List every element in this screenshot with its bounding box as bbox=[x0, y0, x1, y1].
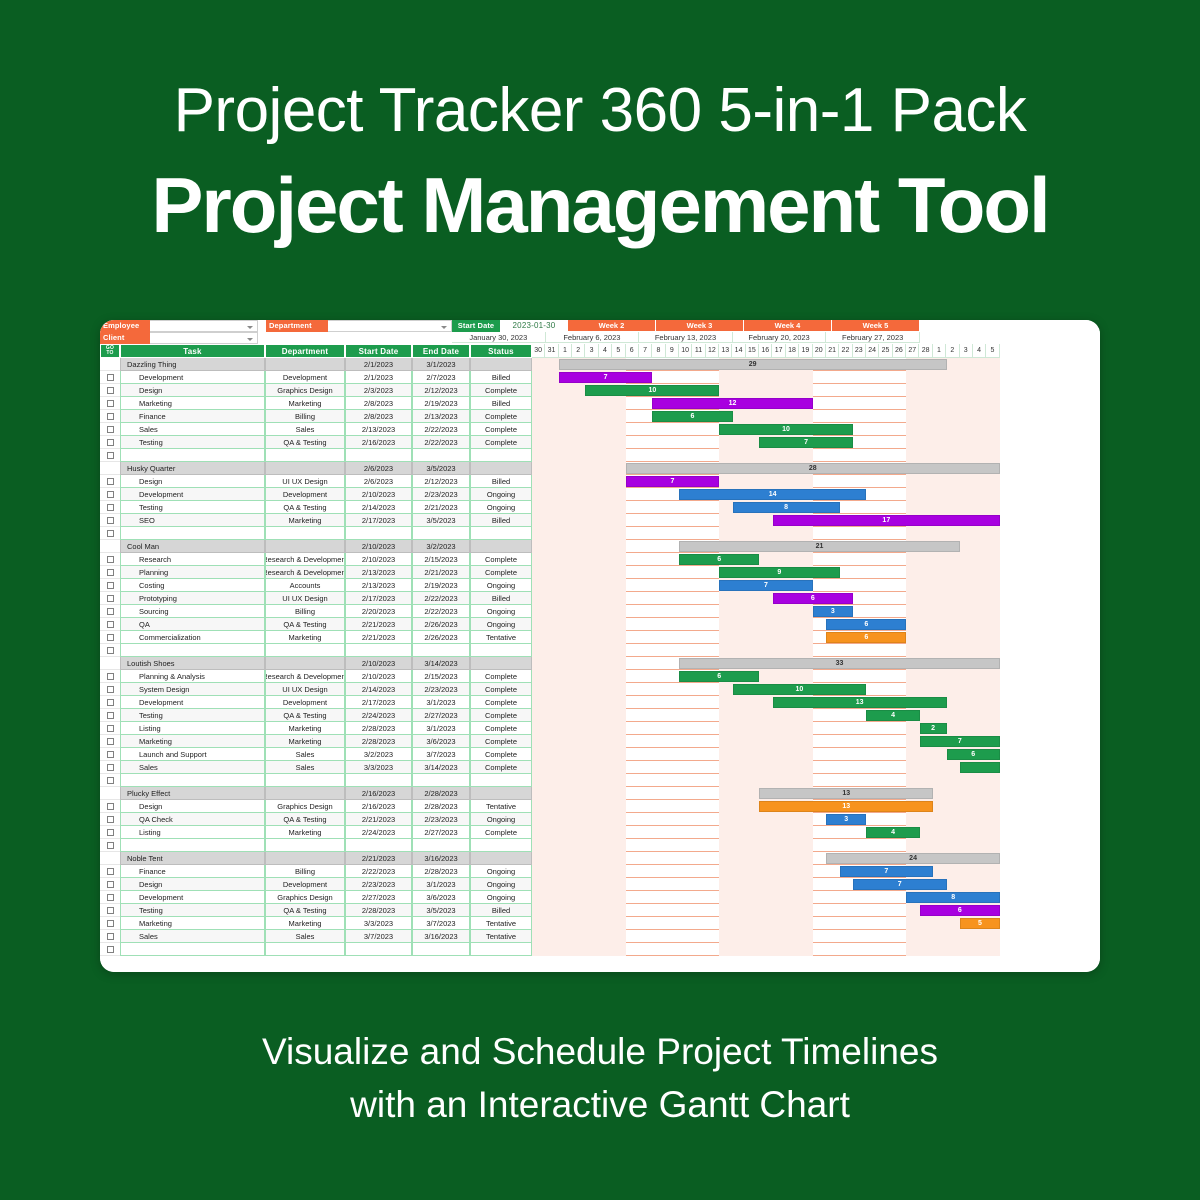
checkbox-icon[interactable] bbox=[107, 751, 114, 758]
task-bar: 6 bbox=[826, 619, 906, 630]
cell-task: Research bbox=[120, 553, 265, 566]
cell-start-date: 2/23/2023 bbox=[345, 878, 412, 891]
cell-status: Complete bbox=[470, 436, 532, 449]
cell-status: Complete bbox=[470, 735, 532, 748]
cell-task: Testing bbox=[120, 904, 265, 917]
caption-line-1: Visualize and Schedule Project Timelines bbox=[0, 1026, 1200, 1079]
goto-checkbox-cell[interactable] bbox=[100, 800, 120, 813]
cell-start-date: 2/17/2023 bbox=[345, 696, 412, 709]
timeline-cell bbox=[532, 930, 1000, 943]
cell-task: QA bbox=[120, 618, 265, 631]
table-row: PrototypingUI UX Design2/17/20232/22/202… bbox=[100, 592, 1100, 605]
cell-status bbox=[470, 852, 532, 865]
week-shade bbox=[906, 501, 1000, 514]
table-row: CostingAccounts2/13/20232/19/2023Ongoing… bbox=[100, 579, 1100, 592]
cell-end-date: 3/5/2023 bbox=[412, 904, 470, 917]
day-cell: 9 bbox=[666, 344, 679, 358]
week-shade bbox=[719, 748, 813, 761]
cell-task: Development bbox=[120, 371, 265, 384]
goto-checkbox-cell[interactable] bbox=[100, 891, 120, 904]
group-row: Husky Quarter2/6/20233/5/202328 bbox=[100, 462, 1100, 475]
checkbox-icon[interactable] bbox=[107, 634, 114, 641]
cell-end-date: 2/15/2023 bbox=[412, 553, 470, 566]
cell-department bbox=[265, 527, 345, 540]
table-row: TestingQA & Testing2/14/20232/21/2023Ong… bbox=[100, 501, 1100, 514]
column-header-start-date: Start Date bbox=[345, 344, 412, 358]
caption-line-2: with an Interactive Gantt Chart bbox=[0, 1079, 1200, 1132]
checkbox-icon[interactable] bbox=[107, 725, 114, 732]
cell-department: Billing bbox=[265, 865, 345, 878]
cell-status: Billed bbox=[470, 397, 532, 410]
cell-department: QA & Testing bbox=[265, 436, 345, 449]
cell-status: Ongoing bbox=[470, 813, 532, 826]
week-shade bbox=[532, 410, 626, 423]
goto-checkbox-cell[interactable] bbox=[100, 826, 120, 839]
product-subtitle: Project Tracker 360 5-in-1 Pack bbox=[0, 78, 1200, 143]
checkbox-icon[interactable] bbox=[107, 673, 114, 680]
goto-checkbox-cell bbox=[100, 644, 120, 657]
cell-task: Prototyping bbox=[120, 592, 265, 605]
goto-checkbox-cell[interactable] bbox=[100, 709, 120, 722]
cell-status: Complete bbox=[470, 761, 532, 774]
goto-checkbox-cell[interactable] bbox=[100, 930, 120, 943]
cell-task: Design bbox=[120, 384, 265, 397]
week-shade bbox=[532, 449, 626, 462]
table-row: TestingQA & Testing2/24/20232/27/2023Com… bbox=[100, 709, 1100, 722]
checkbox-icon[interactable] bbox=[107, 608, 114, 615]
checkbox-icon[interactable] bbox=[107, 374, 114, 381]
cell-start-date: 2/20/2023 bbox=[345, 605, 412, 618]
goto-checkbox-cell bbox=[100, 657, 120, 670]
checkbox-icon bbox=[107, 946, 114, 953]
cell-end-date: 2/28/2023 bbox=[412, 800, 470, 813]
goto-checkbox-cell[interactable] bbox=[100, 475, 120, 488]
goto-checkbox-cell[interactable] bbox=[100, 631, 120, 644]
week-shade bbox=[532, 904, 626, 917]
cell-status: Billed bbox=[470, 371, 532, 384]
cell-department bbox=[265, 657, 345, 670]
cell-start-date: 3/7/2023 bbox=[345, 930, 412, 943]
table-row: MarketingMarketing2/8/20232/19/2023Bille… bbox=[100, 397, 1100, 410]
table-row: PlanningResearch & Development2/13/20232… bbox=[100, 566, 1100, 579]
cell-task: Listing bbox=[120, 826, 265, 839]
cell-department: Marketing bbox=[265, 826, 345, 839]
cell-department: Sales bbox=[265, 930, 345, 943]
goto-checkbox-cell[interactable] bbox=[100, 566, 120, 579]
checkbox-icon[interactable] bbox=[107, 738, 114, 745]
cell-start-date: 2/21/2023 bbox=[345, 631, 412, 644]
goto-checkbox-cell[interactable] bbox=[100, 488, 120, 501]
checkbox-icon[interactable] bbox=[107, 517, 114, 524]
task-bar: 13 bbox=[773, 697, 947, 708]
filter-dropdown-department[interactable] bbox=[328, 320, 452, 332]
week-shade bbox=[906, 826, 1000, 839]
checkbox-icon[interactable] bbox=[107, 478, 114, 485]
checkbox-icon[interactable] bbox=[107, 920, 114, 927]
cell-department bbox=[265, 449, 345, 462]
cell-status: Complete bbox=[470, 826, 532, 839]
cell-end-date: 3/1/2023 bbox=[412, 358, 470, 371]
checkbox-icon[interactable] bbox=[107, 829, 114, 836]
table-row: SalesSales3/7/20233/16/2023Tentative bbox=[100, 930, 1100, 943]
cell-status: Tentative bbox=[470, 800, 532, 813]
checkbox-icon[interactable] bbox=[107, 504, 114, 511]
table-row: MarketingMarketing2/28/20233/6/2023Compl… bbox=[100, 735, 1100, 748]
cell-task: Sales bbox=[120, 930, 265, 943]
checkbox-icon[interactable] bbox=[107, 881, 114, 888]
cell-status: Complete bbox=[470, 553, 532, 566]
cell-end-date: 2/7/2023 bbox=[412, 371, 470, 384]
week-shade bbox=[906, 618, 1000, 631]
cell-start-date bbox=[345, 774, 412, 787]
checkbox-icon[interactable] bbox=[107, 413, 114, 420]
cell-task bbox=[120, 839, 265, 852]
table-row: ListingMarketing2/24/20232/27/2023Comple… bbox=[100, 826, 1100, 839]
cell-department: QA & Testing bbox=[265, 813, 345, 826]
goto-checkbox-cell[interactable] bbox=[100, 735, 120, 748]
cell-status bbox=[470, 527, 532, 540]
cell-status: Complete bbox=[470, 670, 532, 683]
week-shade bbox=[719, 878, 813, 891]
timeline-cell: 6 bbox=[532, 670, 1000, 683]
day-cell: 4 bbox=[973, 344, 986, 358]
day-cell: 26 bbox=[893, 344, 906, 358]
week-shade bbox=[906, 436, 1000, 449]
week-shade bbox=[532, 735, 626, 748]
checkbox-icon[interactable] bbox=[107, 426, 114, 433]
week-shade bbox=[532, 930, 626, 943]
cell-task bbox=[120, 644, 265, 657]
goto-checkbox-cell[interactable] bbox=[100, 514, 120, 527]
timeline-cell: 28 bbox=[532, 462, 1000, 475]
goto-checkbox-cell[interactable] bbox=[100, 397, 120, 410]
checkbox-icon[interactable] bbox=[107, 816, 114, 823]
group-row: Dazzling Thing2/1/20233/1/202329 bbox=[100, 358, 1100, 371]
week-shade bbox=[719, 449, 813, 462]
cell-status: Complete bbox=[470, 566, 532, 579]
goto-checkbox-cell[interactable] bbox=[100, 592, 120, 605]
task-bar: 6 bbox=[826, 632, 906, 643]
week-shade bbox=[719, 410, 813, 423]
goto-checkbox-cell[interactable] bbox=[100, 436, 120, 449]
checkbox-icon[interactable] bbox=[107, 907, 114, 914]
checkbox-icon[interactable] bbox=[107, 387, 114, 394]
cell-start-date: 2/1/2023 bbox=[345, 358, 412, 371]
cell-status bbox=[470, 787, 532, 800]
day-cell: 7 bbox=[639, 344, 652, 358]
week-shade bbox=[532, 592, 626, 605]
goto-checkbox-cell[interactable] bbox=[100, 423, 120, 436]
week-shade bbox=[532, 423, 626, 436]
summary-bar: 29 bbox=[559, 359, 947, 370]
checkbox-icon[interactable] bbox=[107, 569, 114, 576]
day-band: 3031123456789101112131415161718192021222… bbox=[532, 344, 1000, 358]
cell-status: Ongoing bbox=[470, 605, 532, 618]
timeline-cell: 12 bbox=[532, 397, 1000, 410]
cell-task: Testing bbox=[120, 501, 265, 514]
checkbox-icon[interactable] bbox=[107, 686, 114, 693]
day-cell: 30 bbox=[532, 344, 545, 358]
timeline-cell: 8 bbox=[532, 891, 1000, 904]
cell-start-date: 2/17/2023 bbox=[345, 514, 412, 527]
week-shade bbox=[906, 475, 1000, 488]
checkbox-icon[interactable] bbox=[107, 712, 114, 719]
summary-bar: 21 bbox=[679, 541, 960, 552]
day-cell: 23 bbox=[853, 344, 866, 358]
cell-department: Development bbox=[265, 488, 345, 501]
checkbox-icon[interactable] bbox=[107, 400, 114, 407]
week-shade bbox=[719, 930, 813, 943]
cell-end-date: 3/16/2023 bbox=[412, 930, 470, 943]
task-table-body: Dazzling Thing2/1/20233/1/202329Developm… bbox=[100, 358, 1100, 956]
day-cell: 1 bbox=[933, 344, 946, 358]
cell-start-date: 2/13/2023 bbox=[345, 566, 412, 579]
day-cell: 5 bbox=[986, 344, 999, 358]
week-shade bbox=[906, 423, 1000, 436]
goto-checkbox-cell bbox=[100, 787, 120, 800]
goto-checkbox-cell[interactable] bbox=[100, 683, 120, 696]
table-row: DevelopmentGraphics Design2/27/20233/6/2… bbox=[100, 891, 1100, 904]
filter-dropdown-client[interactable] bbox=[150, 332, 258, 344]
week-shade bbox=[719, 735, 813, 748]
week-shade bbox=[532, 865, 626, 878]
week-shade bbox=[719, 917, 813, 930]
timeline-cell: 5 bbox=[532, 917, 1000, 930]
goto-checkbox-cell[interactable] bbox=[100, 618, 120, 631]
cell-start-date: 2/10/2023 bbox=[345, 657, 412, 670]
cell-task: Marketing bbox=[120, 917, 265, 930]
table-row: TestingQA & Testing2/28/20233/5/2023Bill… bbox=[100, 904, 1100, 917]
goto-checkbox-cell[interactable] bbox=[100, 410, 120, 423]
task-bar: 7 bbox=[853, 879, 947, 890]
goto-checkbox-cell[interactable] bbox=[100, 865, 120, 878]
task-bar: 7 bbox=[920, 736, 1000, 747]
blank-cell bbox=[258, 332, 452, 344]
cell-department: Research & Development bbox=[265, 553, 345, 566]
goto-checkbox-cell[interactable] bbox=[100, 761, 120, 774]
cell-end-date: 2/21/2023 bbox=[412, 566, 470, 579]
group-row: Plucky Effect2/16/20232/28/202313 bbox=[100, 787, 1100, 800]
table-row: DesignGraphics Design2/3/20232/12/2023Co… bbox=[100, 384, 1100, 397]
week-shade bbox=[719, 618, 813, 631]
cell-department: Development bbox=[265, 878, 345, 891]
checkbox-icon[interactable] bbox=[107, 621, 114, 628]
timeline-cell: 4 bbox=[532, 826, 1000, 839]
cell-department bbox=[265, 839, 345, 852]
table-row: DevelopmentDevelopment2/1/20232/7/2023Bi… bbox=[100, 371, 1100, 384]
cell-start-date bbox=[345, 527, 412, 540]
goto-checkbox-cell[interactable] bbox=[100, 384, 120, 397]
cell-department: Development bbox=[265, 696, 345, 709]
checkbox-icon[interactable] bbox=[107, 933, 114, 940]
day-cell: 8 bbox=[652, 344, 665, 358]
cell-department: QA & Testing bbox=[265, 501, 345, 514]
table-row: DevelopmentDevelopment2/17/20233/1/2023C… bbox=[100, 696, 1100, 709]
checkbox-icon[interactable] bbox=[107, 699, 114, 706]
goto-checkbox-cell[interactable] bbox=[100, 748, 120, 761]
cell-department bbox=[265, 462, 345, 475]
goto-checkbox-cell[interactable] bbox=[100, 553, 120, 566]
checkbox-icon[interactable] bbox=[107, 868, 114, 875]
day-cell: 19 bbox=[799, 344, 812, 358]
week-shade bbox=[719, 865, 813, 878]
timeline-cell: 3 bbox=[532, 605, 1000, 618]
checkbox-icon[interactable] bbox=[107, 491, 114, 498]
cell-task: Husky Quarter bbox=[120, 462, 265, 475]
timeline-cell: 17 bbox=[532, 514, 1000, 527]
checkbox-icon[interactable] bbox=[107, 595, 114, 602]
cell-task: Marketing bbox=[120, 397, 265, 410]
cell-task: Loutish Shoes bbox=[120, 657, 265, 670]
timeline-cell: 14 bbox=[532, 488, 1000, 501]
table-row: QAQA & Testing2/21/20232/26/2023Ongoing6 bbox=[100, 618, 1100, 631]
day-cell: 18 bbox=[786, 344, 799, 358]
task-bar: 9 bbox=[719, 567, 839, 578]
week-shade bbox=[532, 917, 626, 930]
week-shade bbox=[906, 813, 1000, 826]
week-shade bbox=[719, 761, 813, 774]
cell-department: Graphics Design bbox=[265, 891, 345, 904]
task-bar: 2 bbox=[920, 723, 947, 734]
day-cell: 14 bbox=[732, 344, 745, 358]
week-shade bbox=[906, 631, 1000, 644]
goto-checkbox-cell[interactable] bbox=[100, 722, 120, 735]
cell-department: Graphics Design bbox=[265, 800, 345, 813]
task-bar: 7 bbox=[759, 437, 853, 448]
cell-department: Marketing bbox=[265, 397, 345, 410]
week-shade bbox=[532, 579, 626, 592]
week-shade bbox=[532, 566, 626, 579]
task-bar: 5 bbox=[960, 918, 1000, 929]
cell-end-date bbox=[412, 774, 470, 787]
cell-end-date: 3/14/2023 bbox=[412, 657, 470, 670]
week-shade bbox=[532, 813, 626, 826]
group-row: Loutish Shoes2/10/20233/14/202333 bbox=[100, 657, 1100, 670]
cell-status: Complete bbox=[470, 410, 532, 423]
cell-department: Marketing bbox=[265, 722, 345, 735]
goto-checkbox-cell[interactable] bbox=[100, 579, 120, 592]
cell-department: Marketing bbox=[265, 917, 345, 930]
task-bar: 10 bbox=[585, 385, 719, 396]
week-shade bbox=[906, 943, 1000, 956]
goto-checkbox-cell[interactable] bbox=[100, 501, 120, 514]
timeline-cell: 10 bbox=[532, 683, 1000, 696]
goto-checkbox-cell[interactable] bbox=[100, 371, 120, 384]
month-label: February 6, 2023 bbox=[546, 332, 640, 343]
timeline-cell: 7 bbox=[532, 436, 1000, 449]
cell-status: Complete bbox=[470, 722, 532, 735]
week-shade bbox=[719, 384, 813, 397]
checkbox-icon[interactable] bbox=[107, 439, 114, 446]
goto-checkbox-cell bbox=[100, 839, 120, 852]
cell-end-date: 2/19/2023 bbox=[412, 579, 470, 592]
goto-checkbox-cell[interactable] bbox=[100, 605, 120, 618]
week-shade bbox=[719, 722, 813, 735]
spacer-row bbox=[100, 774, 1100, 787]
goto-checkbox-cell[interactable] bbox=[100, 917, 120, 930]
cell-task bbox=[120, 527, 265, 540]
table-row: DesignUI UX Design2/6/20232/12/2023Bille… bbox=[100, 475, 1100, 488]
goto-checkbox-cell[interactable] bbox=[100, 878, 120, 891]
week-shade bbox=[532, 748, 626, 761]
week-shade bbox=[532, 826, 626, 839]
cell-task: Finance bbox=[120, 865, 265, 878]
timeline-cell bbox=[532, 761, 1000, 774]
checkbox-icon bbox=[107, 530, 114, 537]
goto-checkbox-cell[interactable] bbox=[100, 813, 120, 826]
timeline-cell: 10 bbox=[532, 384, 1000, 397]
timeline-cell: 7 bbox=[532, 475, 1000, 488]
cell-end-date bbox=[412, 839, 470, 852]
timeline-cell: 29 bbox=[532, 358, 1000, 371]
day-cell: 17 bbox=[772, 344, 785, 358]
cell-end-date: 3/2/2023 bbox=[412, 540, 470, 553]
timeline-cell: 6 bbox=[532, 904, 1000, 917]
cell-start-date: 2/21/2023 bbox=[345, 813, 412, 826]
cell-end-date: 2/27/2023 bbox=[412, 709, 470, 722]
summary-bar: 13 bbox=[759, 788, 933, 799]
day-cell: 24 bbox=[866, 344, 879, 358]
summary-bar: 28 bbox=[626, 463, 1000, 474]
day-cell: 28 bbox=[919, 344, 932, 358]
cell-start-date: 3/3/2023 bbox=[345, 917, 412, 930]
cell-start-date: 2/28/2023 bbox=[345, 904, 412, 917]
goto-checkbox-cell[interactable] bbox=[100, 670, 120, 683]
week-shade bbox=[532, 683, 626, 696]
cell-end-date: 2/15/2023 bbox=[412, 670, 470, 683]
task-bar: 7 bbox=[626, 476, 720, 487]
task-bar bbox=[960, 762, 1000, 773]
table-row: DesignDevelopment2/23/20233/1/2023Ongoin… bbox=[100, 878, 1100, 891]
cell-start-date: 2/28/2023 bbox=[345, 735, 412, 748]
goto-checkbox-cell[interactable] bbox=[100, 696, 120, 709]
checkbox-icon[interactable] bbox=[107, 894, 114, 901]
timeline-cell: 13 bbox=[532, 696, 1000, 709]
cell-end-date: 2/27/2023 bbox=[412, 826, 470, 839]
cell-status bbox=[470, 657, 532, 670]
task-bar: 6 bbox=[679, 671, 759, 682]
filter-label-employee: Employee bbox=[100, 320, 150, 332]
cell-status: Billed bbox=[470, 475, 532, 488]
week-shade bbox=[532, 605, 626, 618]
cell-department: Sales bbox=[265, 748, 345, 761]
cell-department: Accounts bbox=[265, 579, 345, 592]
cell-department: QA & Testing bbox=[265, 618, 345, 631]
cell-start-date bbox=[345, 943, 412, 956]
checkbox-icon[interactable] bbox=[107, 556, 114, 563]
cell-start-date: 2/3/2023 bbox=[345, 384, 412, 397]
week-shade bbox=[906, 592, 1000, 605]
week-shade bbox=[532, 839, 626, 852]
cell-status: Complete bbox=[470, 696, 532, 709]
week-shade bbox=[532, 722, 626, 735]
checkbox-icon[interactable] bbox=[107, 582, 114, 589]
goto-checkbox-cell[interactable] bbox=[100, 904, 120, 917]
cell-department: QA & Testing bbox=[265, 709, 345, 722]
cell-end-date: 2/22/2023 bbox=[412, 592, 470, 605]
week-band-holder: Week 2Week 3Week 4Week 5 bbox=[568, 320, 920, 332]
table-row: FinanceBilling2/8/20232/13/2023Complete6 bbox=[100, 410, 1100, 423]
week-shade bbox=[532, 800, 626, 813]
filter-dropdown-employee[interactable] bbox=[150, 320, 258, 332]
timeline-cell: 13 bbox=[532, 800, 1000, 813]
cell-end-date: 3/1/2023 bbox=[412, 878, 470, 891]
checkbox-icon[interactable] bbox=[107, 764, 114, 771]
checkbox-icon[interactable] bbox=[107, 803, 114, 810]
cell-department: Graphics Design bbox=[265, 384, 345, 397]
cell-end-date: 2/28/2023 bbox=[412, 865, 470, 878]
month-label: February 13, 2023 bbox=[639, 332, 733, 343]
